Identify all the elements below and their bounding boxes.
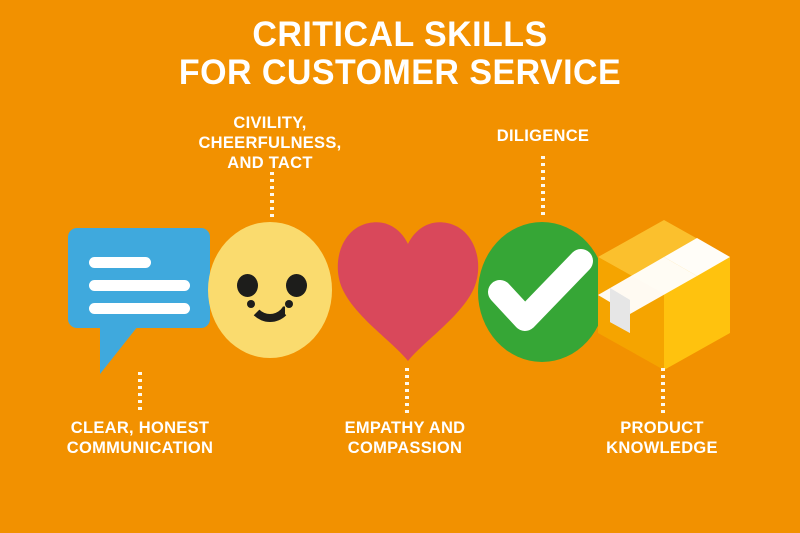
connector-clear-honest-communication bbox=[138, 372, 142, 414]
skill-label-clear-honest-communication: CLEAR, HONEST COMMUNICATION bbox=[43, 418, 237, 458]
speech-bubble-icon bbox=[68, 218, 216, 368]
connector-civility-cheerfulness-tact bbox=[270, 172, 274, 218]
smiley-mouth-cap bbox=[285, 300, 293, 308]
smiley-face-icon bbox=[208, 218, 334, 360]
label-line-2: COMPASSION bbox=[310, 438, 500, 458]
speech-bubble-tail bbox=[100, 326, 138, 374]
infographic-poster: CRITICAL SKILLS FOR CUSTOMER SERVICE bbox=[0, 0, 800, 533]
smiley-eye-right bbox=[286, 274, 307, 297]
smiley-eye-left bbox=[237, 274, 258, 297]
skill-label-empathy-and-compassion: EMPATHY AND COMPASSION bbox=[310, 418, 500, 458]
smiley-mouth-cap bbox=[247, 300, 255, 308]
label-line-1: CLEAR, HONEST bbox=[43, 418, 237, 438]
skill-label-diligence: DILIGENCE bbox=[448, 126, 638, 146]
label-line-2: KNOWLEDGE bbox=[567, 438, 757, 458]
heart-icon bbox=[336, 218, 480, 363]
label-line-1: CIVILITY, bbox=[175, 113, 365, 133]
connector-empathy-and-compassion bbox=[405, 368, 409, 414]
label-line-1: PRODUCT bbox=[567, 418, 757, 438]
label-line-2: COMMUNICATION bbox=[43, 438, 237, 458]
speech-bubble-text-line bbox=[89, 280, 190, 291]
speech-bubble-text-line bbox=[89, 303, 190, 314]
label-line-2: CHEERFULNESS, bbox=[175, 133, 365, 153]
speech-bubble-text-line bbox=[89, 257, 151, 268]
heart-shape bbox=[336, 218, 480, 363]
smiley-face-circle bbox=[208, 222, 332, 358]
skill-label-product-knowledge: PRODUCT KNOWLEDGE bbox=[567, 418, 757, 458]
check-mark-circle-icon bbox=[478, 218, 608, 363]
connector-product-knowledge bbox=[661, 368, 665, 414]
package-box-icon bbox=[596, 218, 732, 373]
label-line-1: EMPATHY AND bbox=[310, 418, 500, 438]
label-line-3: AND TACT bbox=[175, 153, 365, 173]
package-box-shape bbox=[596, 218, 732, 373]
speech-bubble-body bbox=[68, 228, 210, 328]
skill-label-civility-cheerfulness-tact: CIVILITY, CHEERFULNESS, AND TACT bbox=[175, 113, 365, 173]
check-mark-glyph bbox=[478, 218, 608, 363]
connector-diligence bbox=[541, 156, 545, 218]
label-line-1: DILIGENCE bbox=[448, 126, 638, 146]
